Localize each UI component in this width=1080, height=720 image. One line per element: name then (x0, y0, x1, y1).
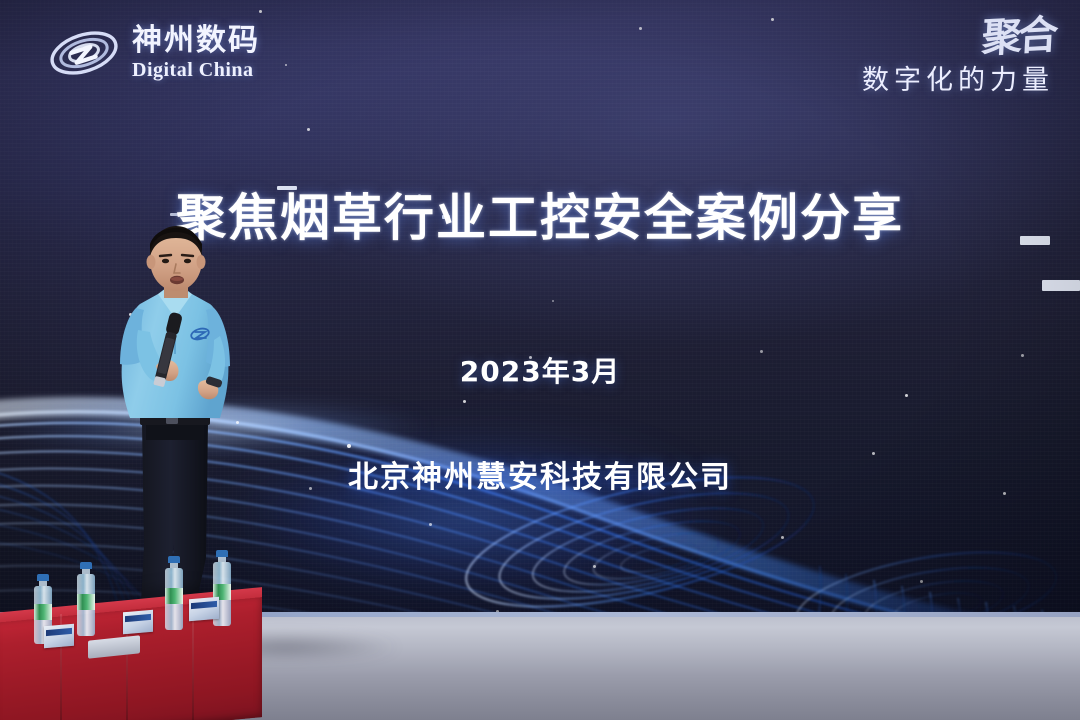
event-logo: 聚合 数字化的力量 (862, 18, 1054, 97)
event-logo-calligraphy: 聚合 (981, 16, 1055, 58)
conference-photo-stage: 神州数码 Digital China 聚合 数字化的力量 聚焦烟草行业工控安全案… (0, 0, 1080, 720)
water-bottle (165, 556, 183, 630)
name-card (189, 597, 219, 622)
event-logo-tagline: 数字化的力量 (862, 58, 1054, 97)
water-bottle (77, 562, 95, 636)
name-card (123, 610, 153, 635)
logo-english-name: Digital China (132, 60, 260, 80)
logo-chinese-name: 神州数码 (132, 26, 260, 56)
speaker-figure (96, 226, 272, 626)
digital-china-swirl-icon (48, 22, 120, 84)
digital-china-logo: 神州数码 Digital China (48, 22, 260, 84)
name-card (44, 624, 74, 649)
